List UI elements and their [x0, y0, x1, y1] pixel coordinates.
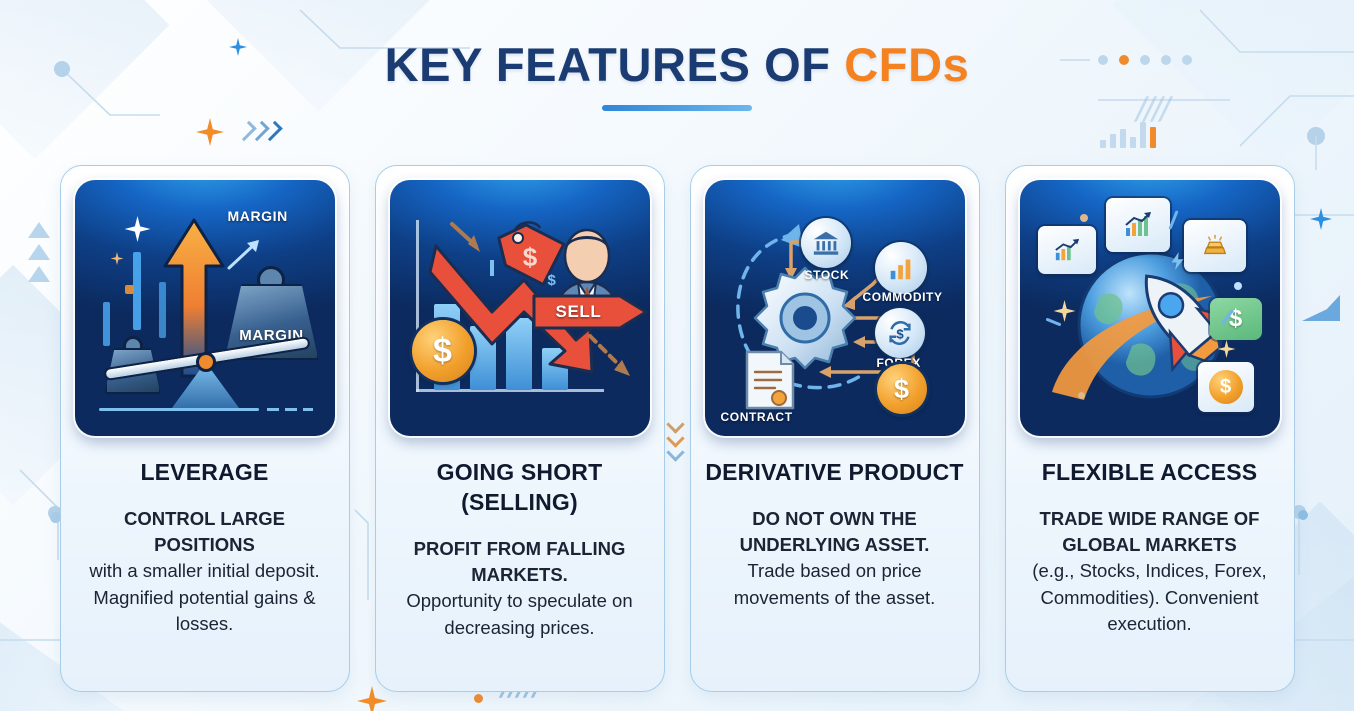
bank-icon	[801, 218, 851, 268]
tile-label-margin-top: MARGIN	[228, 208, 288, 224]
base-line	[99, 408, 259, 411]
falling-chart-sell-icon: $ $ SELL	[390, 180, 650, 436]
card-body: TRADE WIDE RANGE OF GLOBAL MARKETS (e.g.…	[1020, 506, 1280, 637]
card-body: CONTROL LARGE POSITIONS with a smaller i…	[75, 506, 335, 637]
chart-bubble-top-icon	[1106, 198, 1170, 252]
feature-card-going-short[interactable]: $ $ SELL	[375, 165, 665, 692]
svg-text:$: $	[522, 242, 537, 272]
title-underline	[602, 105, 752, 111]
feature-card-flexible-access[interactable]: $ $ FLEXIBLE ACCESS TRADE WIDE RAN	[1005, 165, 1295, 692]
gold-coin-icon: $	[877, 364, 927, 414]
particle-dot	[1234, 282, 1242, 290]
gold-bars-icon	[1184, 220, 1246, 272]
contract-document-icon	[741, 348, 799, 414]
pivot-point	[196, 352, 216, 372]
card-title: FLEXIBLE ACCESS	[1042, 458, 1258, 488]
gear-assets-network-icon: STOCK COMMODITY	[705, 180, 965, 436]
card-body-normal: (e.g., Stocks, Indices, Forex, Commoditi…	[1020, 558, 1280, 637]
infographic-canvas: KEY FEATURES OF CFDs	[0, 0, 1354, 711]
margin-arrow-icon	[225, 236, 265, 272]
card-body-strong: CONTROL LARGE POSITIONS	[75, 506, 335, 559]
card-body-normal: Trade based on price movements of the as…	[705, 558, 965, 611]
tile-label-sell: SELL	[556, 302, 602, 322]
page-header: KEY FEATURES OF CFDs	[0, 40, 1354, 111]
dot-decoration	[474, 694, 483, 703]
tile-label-contract: CONTRACT	[721, 410, 793, 424]
forex-exchange-icon: $	[875, 308, 925, 358]
feature-card-derivative-product[interactable]: STOCK COMMODITY	[690, 165, 980, 692]
card-body-normal: Opportunity to speculate on decreasing p…	[390, 588, 650, 641]
svg-text:$: $	[896, 327, 904, 342]
base-dash	[267, 408, 279, 411]
page-title-accent: CFDs	[844, 38, 969, 91]
tile-label-stock: STOCK	[805, 268, 850, 282]
page-title: KEY FEATURES OF CFDs	[0, 40, 1354, 89]
card-title: LEVERAGE	[140, 458, 268, 488]
coin-bubble-icon: $	[1198, 362, 1254, 412]
card-body-strong: PROFIT FROM FALLING MARKETS.	[390, 536, 650, 589]
leverage-seesaw-icon: MARGIN MARGIN	[75, 180, 335, 436]
chevron-right-triple-icon	[241, 122, 278, 140]
mini-bar-chart-icon	[1100, 120, 1156, 148]
feature-card-row: MARGIN MARGIN LEVER	[0, 165, 1354, 692]
particle-dot	[1078, 392, 1085, 399]
chart-bubble-left-icon	[1038, 226, 1096, 274]
card-body: PROFIT FROM FALLING MARKETS. Opportunity…	[390, 536, 650, 641]
card-body-strong: DO NOT OWN THE UNDERLYING ASSET.	[705, 506, 965, 559]
particle-dot	[1080, 214, 1088, 222]
tile-label-commodity: COMMODITY	[863, 290, 943, 304]
feature-card-leverage[interactable]: MARGIN MARGIN LEVER	[60, 165, 350, 692]
card-title: GOING SHORT (SELLING)	[390, 458, 650, 518]
base-dash	[303, 408, 313, 411]
small-down-arrow-icon	[448, 220, 492, 260]
globe-rocket-markets-icon: $ $	[1020, 180, 1280, 436]
base-dash	[285, 408, 297, 411]
sparkle-orange-icon	[196, 118, 224, 146]
marker-dot	[125, 285, 134, 294]
green-dollar-badge-icon: $	[1210, 298, 1262, 340]
page-title-main: KEY FEATURES OF	[385, 38, 831, 91]
card-body-normal: with a smaller initial deposit. Magnifie…	[75, 558, 335, 637]
card-body: DO NOT OWN THE UNDERLYING ASSET. Trade b…	[705, 506, 965, 611]
card-body-strong: TRADE WIDE RANGE OF GLOBAL MARKETS	[1020, 506, 1280, 559]
dashed-arrow-icon	[586, 332, 642, 388]
dollar-coin-icon: $	[412, 320, 474, 382]
bar-chart-icon	[875, 242, 927, 294]
card-title: DERIVATIVE PRODUCT	[705, 458, 963, 488]
